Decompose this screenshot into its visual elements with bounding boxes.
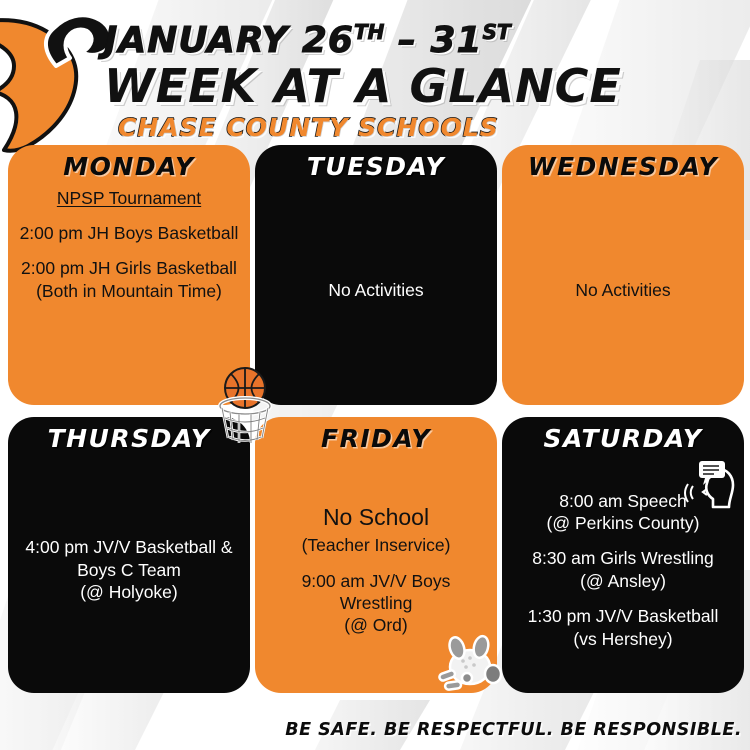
event-item: (@ Ansley) xyxy=(580,570,666,592)
date-range: JANUARY 26TH – 31ST xyxy=(104,22,724,59)
day-card-body: No Activities xyxy=(508,185,738,396)
event-item: (@ Perkins County) xyxy=(547,512,700,534)
event-item: 4:00 pm JV/V Basketball & Boys C Team xyxy=(18,536,240,581)
footer-slogan: BE SAFE. BE RESPECTFUL. BE RESPONSIBLE. xyxy=(285,720,742,740)
day-card-body: 4:00 pm JV/V Basketball & Boys C Team(@ … xyxy=(14,457,244,684)
event-item: 2:00 pm JH Girls Basketball xyxy=(21,257,237,279)
event-item: (vs Hershey) xyxy=(573,628,672,650)
event-item: 1:30 pm JV/V Basketball xyxy=(528,605,719,627)
day-card-tuesday: TUESDAYNo Activities xyxy=(255,145,497,405)
event-item: (@ Ord) xyxy=(344,614,407,636)
day-card-saturday: SATURDAY8:00 am Speech(@ Perkins County)… xyxy=(502,417,744,693)
day-card-title: THURSDAY xyxy=(48,425,211,453)
event-item: 8:30 am Girls Wrestling xyxy=(532,547,714,569)
day-card-body: NPSP Tournament2:00 pm JH Boys Basketbal… xyxy=(14,185,244,396)
page-subtitle: CHASE COUNTY SCHOOLS xyxy=(118,115,724,140)
day-card-thursday: THURSDAY4:00 pm JV/V Basketball & Boys C… xyxy=(8,417,250,693)
date-ordinal-1: TH xyxy=(354,20,384,44)
event-item: (@ Holyoke) xyxy=(80,581,178,603)
day-card-title: WEDNESDAY xyxy=(528,153,718,181)
event-item: No Activities xyxy=(328,279,423,301)
day-card-title: TUESDAY xyxy=(307,153,445,181)
header-title-block: JANUARY 26TH – 31ST WEEK AT A GLANCE CHA… xyxy=(104,22,724,140)
event-heading: NPSP Tournament xyxy=(57,188,201,208)
event-item: (Teacher Inservice) xyxy=(302,534,451,556)
day-card-friday: FRIDAYNo School(Teacher Inservice)9:00 a… xyxy=(255,417,497,693)
day-card-body: 8:00 am Speech(@ Perkins County)8:30 am … xyxy=(508,457,738,684)
event-item: No Activities xyxy=(575,279,670,301)
day-card-title: MONDAY xyxy=(63,153,194,181)
day-card-title: FRIDAY xyxy=(321,425,431,453)
day-card-monday: MONDAYNPSP Tournament2:00 pm JH Boys Bas… xyxy=(8,145,250,405)
event-item: No School xyxy=(323,503,429,532)
page-header: JANUARY 26TH – 31ST WEEK AT A GLANCE CHA… xyxy=(0,0,750,145)
day-card-body: No School(Teacher Inservice)9:00 am JV/V… xyxy=(261,457,491,684)
event-item: 9:00 am JV/V Boys Wrestling xyxy=(265,570,487,615)
day-card-title: SATURDAY xyxy=(544,425,703,453)
event-item: (Both in Mountain Time) xyxy=(36,280,222,302)
event-item: NPSP Tournament xyxy=(57,187,201,209)
week-grid: MONDAYNPSP Tournament2:00 pm JH Boys Bas… xyxy=(8,145,744,705)
page-title: WEEK AT A GLANCE xyxy=(104,63,724,109)
date-ordinal-2: ST xyxy=(483,20,511,44)
day-card-wednesday: WEDNESDAYNo Activities xyxy=(502,145,744,405)
event-item: 8:00 am Speech xyxy=(559,490,686,512)
event-item: 2:00 pm JH Boys Basketball xyxy=(20,222,239,244)
day-card-body: No Activities xyxy=(261,185,491,396)
